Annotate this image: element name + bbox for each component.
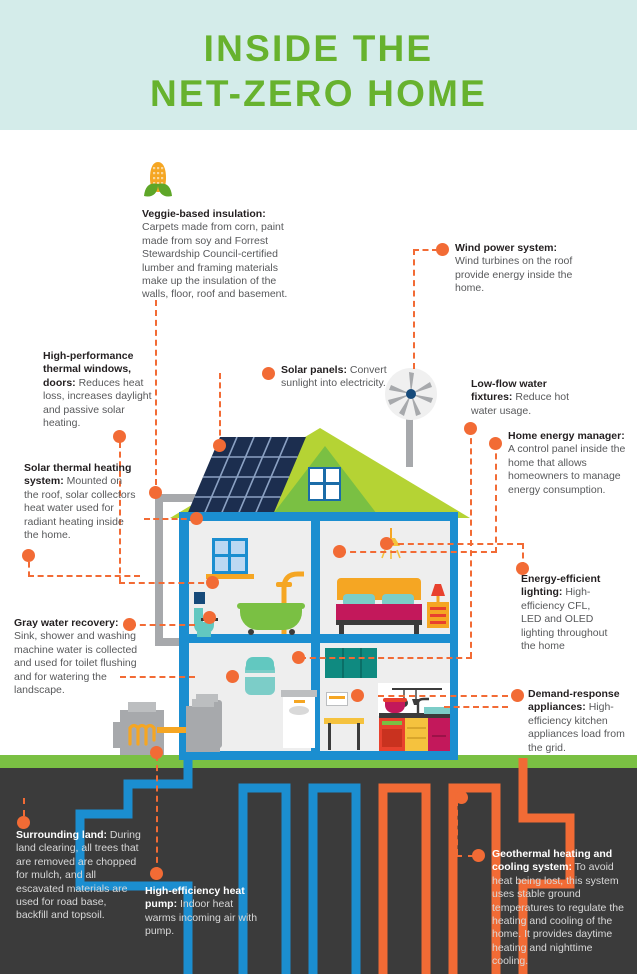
kitchen-faucet-icon bbox=[414, 697, 432, 715]
washer-door bbox=[289, 706, 309, 715]
toilet-base bbox=[197, 632, 211, 637]
connector-demand-response-h2 bbox=[444, 706, 508, 708]
drawer-line-1 bbox=[407, 727, 426, 729]
kitchen-drawers-unit bbox=[405, 718, 428, 751]
dot-demand-response[interactable] bbox=[511, 689, 524, 702]
callout-body: Sink, shower and washing machine water i… bbox=[14, 630, 137, 696]
callout-title: Gray water recovery: bbox=[14, 617, 118, 629]
bedside-lamp-icon bbox=[427, 582, 449, 604]
callout-title: Veggie-based insulation: bbox=[142, 208, 266, 220]
dot-home-energy-manager-house[interactable] bbox=[333, 545, 346, 558]
connector-home-energy-manager-h bbox=[340, 551, 497, 553]
connector-lighting-h bbox=[388, 543, 523, 545]
dot-veggie-insulation[interactable] bbox=[149, 486, 162, 499]
dot-geothermal[interactable] bbox=[472, 849, 485, 862]
water-heater-top bbox=[246, 657, 274, 670]
cabinet-divider-2 bbox=[360, 648, 362, 678]
callout-body: Wind turbines on the roof provide energy… bbox=[455, 255, 572, 294]
heat-pump-unit-left-skirt bbox=[113, 722, 122, 748]
bathtub-rim bbox=[237, 603, 305, 609]
connector-wind-power-h bbox=[413, 249, 438, 251]
connector-low-flow-water-h bbox=[300, 657, 472, 659]
oven-control-panel bbox=[382, 721, 402, 725]
bathroom-window-mullion-h bbox=[212, 554, 248, 557]
dot-lighting-house[interactable] bbox=[380, 537, 393, 550]
callout-title: Home energy manager: bbox=[508, 430, 625, 442]
washer-indicator bbox=[294, 700, 305, 703]
table-leg-right bbox=[357, 723, 360, 750]
washer-top bbox=[281, 690, 317, 697]
dot-gray-water-basement[interactable] bbox=[226, 670, 239, 683]
connector-solar-panels bbox=[219, 373, 221, 445]
connector-gray-water-h bbox=[130, 624, 195, 626]
callout-surrounding-land: Surrounding land: During land clearing, … bbox=[16, 829, 141, 923]
callout-thermal-windows: High-performance thermal windows, doors:… bbox=[43, 350, 161, 430]
callout-body: A control panel inside the home that all… bbox=[508, 443, 625, 495]
callout-gray-water: Gray water recovery: Sink, shower and wa… bbox=[14, 617, 139, 697]
turbine-mast bbox=[406, 412, 413, 467]
dot-solar-panels-roof[interactable] bbox=[213, 439, 226, 452]
callout-demand-response: Demand-response appliances: High-efficie… bbox=[528, 688, 633, 755]
connector-thermal-windows-h bbox=[119, 582, 214, 584]
bathtub-foot-left bbox=[248, 629, 254, 635]
callout-home-energy-manager: Home energy manager: A control panel ins… bbox=[508, 430, 633, 497]
picture-frame-art bbox=[329, 696, 345, 699]
dot-heat-pump-unit[interactable] bbox=[150, 746, 163, 759]
towel-rack-icon bbox=[194, 592, 205, 604]
attic-window-mullion-h bbox=[308, 482, 341, 485]
rooftop-solar-array bbox=[186, 437, 306, 519]
connector-demand-response-h bbox=[378, 695, 508, 697]
callout-low-flow-water: Low-flow water fixtures: Reduce hot wate… bbox=[471, 378, 589, 418]
dot-demand-response-house[interactable] bbox=[351, 689, 364, 702]
bed-leg-left bbox=[339, 624, 344, 634]
kitchen-picture-frame bbox=[326, 692, 348, 706]
connector-solar-thermal-h bbox=[28, 575, 140, 577]
table-leg-left bbox=[328, 723, 331, 750]
stovetop-pot bbox=[385, 701, 405, 713]
callout-body: Carpets made from corn, paint made from … bbox=[142, 221, 287, 300]
connector-heat-pump bbox=[156, 755, 158, 873]
dot-geothermal-loop[interactable] bbox=[455, 791, 468, 804]
dot-low-flow-water[interactable] bbox=[464, 422, 477, 435]
heat-pump-coil-icon bbox=[127, 722, 157, 746]
dot-wind-power[interactable] bbox=[436, 243, 449, 256]
callout-title: Solar panels: bbox=[281, 364, 347, 376]
callout-body: To avoid heat being lost, this system us… bbox=[492, 861, 624, 967]
callout-solar-panels: Solar panels: Convert sunlight into elec… bbox=[281, 364, 401, 391]
connector-solar-thermal-top bbox=[144, 518, 196, 520]
nightstand-drawer-2 bbox=[430, 614, 446, 617]
callout-title: Wind power system: bbox=[455, 242, 557, 254]
callout-heat-pump: High-efficiency heat pump: Indoor heat w… bbox=[145, 885, 263, 939]
dot-low-flow-water-house[interactable] bbox=[292, 651, 305, 664]
connector-home-energy-manager bbox=[495, 443, 497, 553]
heat-pump-unit-right-top bbox=[192, 699, 214, 707]
dot-gray-water-house[interactable] bbox=[203, 611, 216, 624]
connector-surrounding-land bbox=[23, 798, 25, 816]
callout-wind-power: Wind power system: Wind turbines on the … bbox=[455, 242, 580, 296]
cabinet-handle bbox=[432, 735, 446, 737]
dot-surrounding-land[interactable] bbox=[17, 816, 30, 829]
dot-thermal-windows-house[interactable] bbox=[206, 576, 219, 589]
dot-solar-panels[interactable] bbox=[262, 367, 275, 380]
cabinet-divider-1 bbox=[342, 648, 344, 678]
dot-heat-pump[interactable] bbox=[150, 867, 163, 880]
washer-unit bbox=[283, 696, 315, 748]
callout-title: Surrounding land: bbox=[16, 829, 107, 841]
heat-pump-unit-right bbox=[186, 706, 220, 752]
bathtub bbox=[240, 606, 302, 630]
bed-frame bbox=[336, 620, 422, 625]
dot-thermal-windows[interactable] bbox=[113, 430, 126, 443]
nightstand-drawer-3 bbox=[430, 621, 446, 624]
oven-door bbox=[382, 729, 402, 747]
callout-solar-thermal: Solar thermal heating system: Mounted on… bbox=[24, 462, 136, 542]
connector-wind-power-v bbox=[413, 249, 415, 369]
connector-geothermal-v bbox=[456, 800, 458, 855]
stovetop-pot-lid bbox=[383, 698, 407, 702]
nightstand-drawer-1 bbox=[430, 607, 446, 610]
callout-energy-efficient-lighting: Energy-efficient lighting: High-efficien… bbox=[521, 573, 613, 653]
corn-icon bbox=[142, 158, 174, 202]
bed-mattress bbox=[336, 604, 422, 621]
water-heater-band bbox=[245, 673, 275, 677]
callout-body: During land clearing, all trees that are… bbox=[16, 829, 141, 921]
dot-solar-thermal[interactable] bbox=[22, 549, 35, 562]
dot-home-energy-manager[interactable] bbox=[489, 437, 502, 450]
bed-leg-right bbox=[414, 624, 419, 634]
heat-pump-unit-left-top bbox=[128, 702, 156, 712]
kitchen-wall-cabinet bbox=[325, 648, 377, 678]
drawer-line-2 bbox=[407, 737, 426, 739]
callout-veggie-insulation: Veggie-based insulation: Carpets made fr… bbox=[142, 208, 292, 302]
callout-geothermal: Geothermal heating and cooling system: T… bbox=[492, 848, 627, 969]
bathtub-foot-right bbox=[289, 629, 295, 635]
dot-solar-thermal-house[interactable] bbox=[190, 512, 203, 525]
connector-solar-thermal-v bbox=[28, 562, 30, 577]
